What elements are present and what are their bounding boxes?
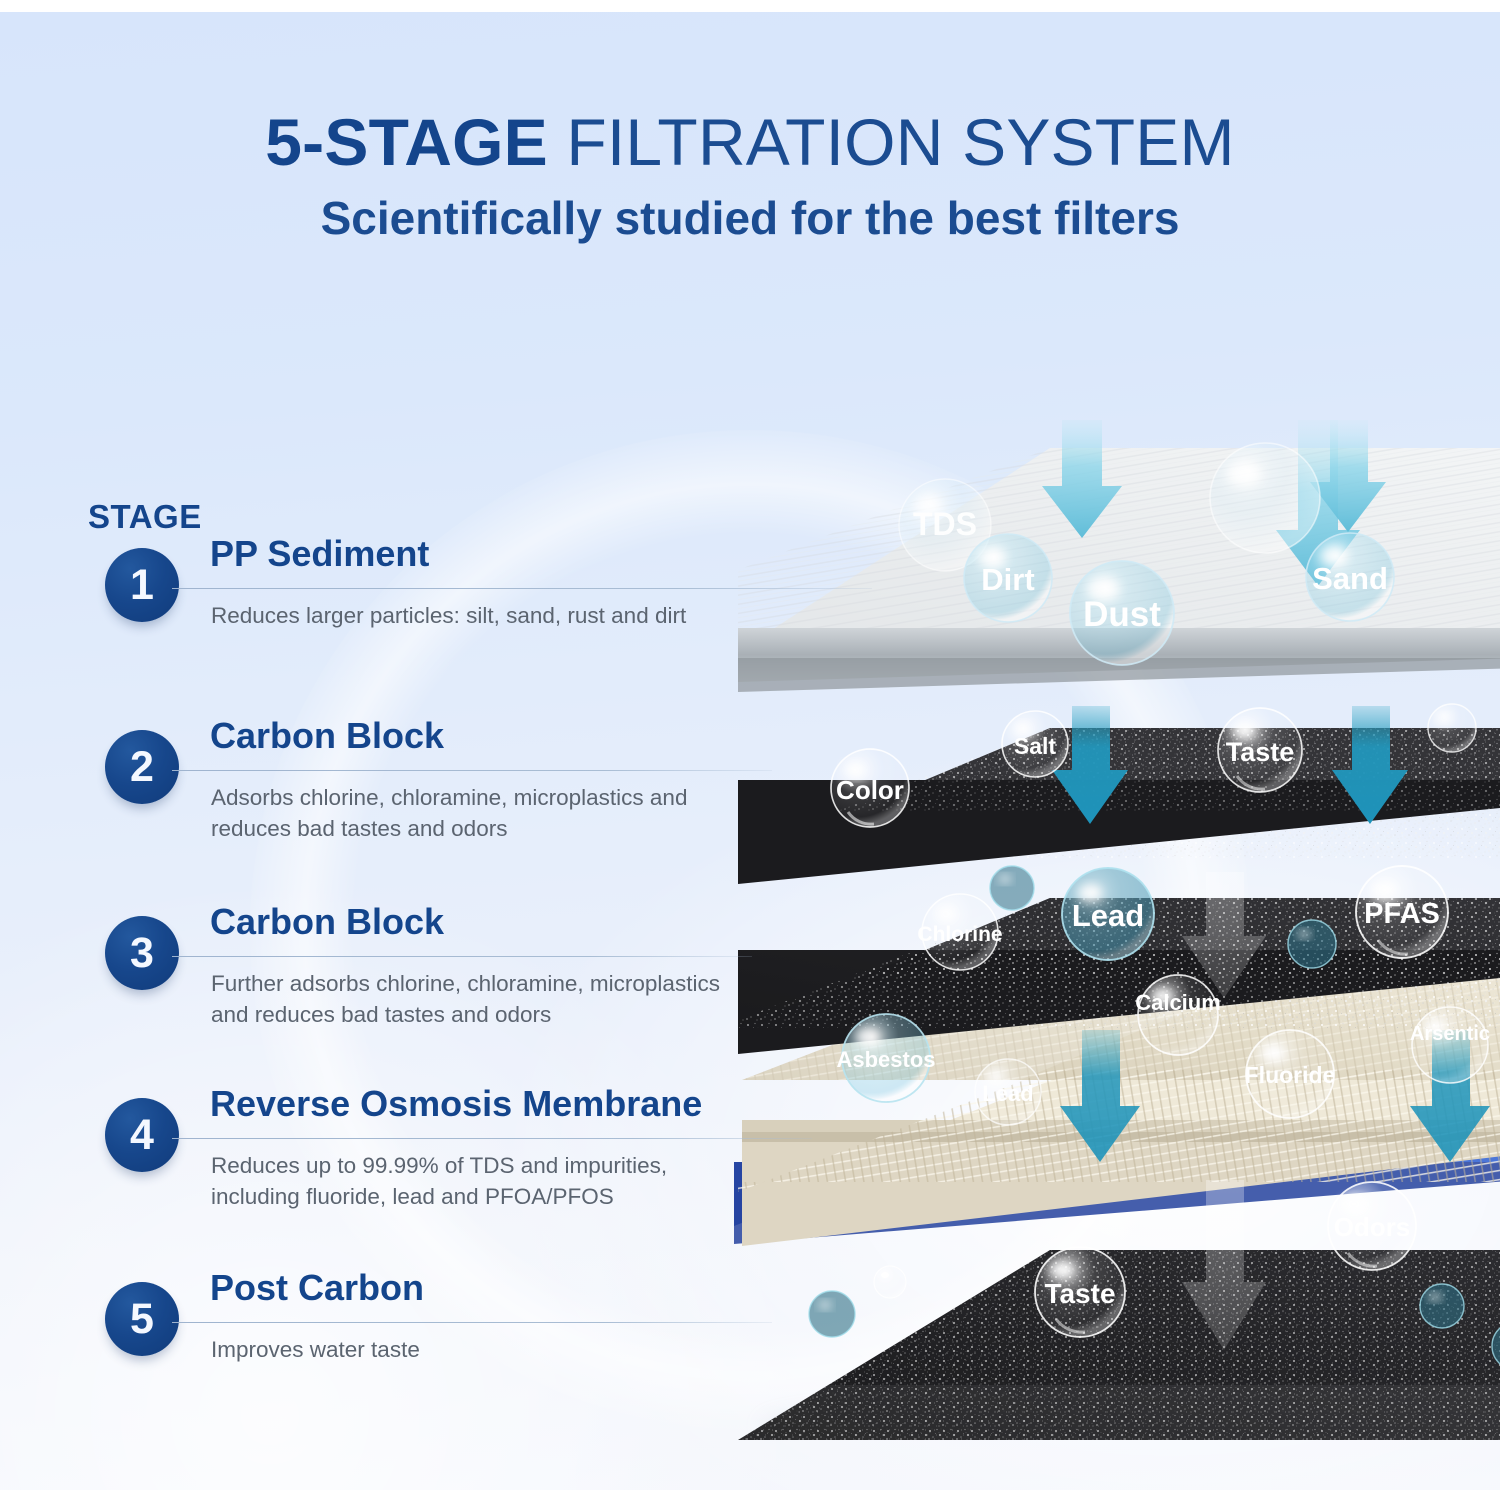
- bubble-label: Salt: [1014, 733, 1057, 759]
- bubble-label: Lead: [982, 1081, 1033, 1106]
- stage-connector-line-4: [172, 1138, 812, 1139]
- bubble-lead-carbon2: Lead: [1062, 868, 1154, 960]
- title-emphasis: 5-STAGE: [265, 105, 548, 179]
- bubble-droplet-teal-4: [1420, 1284, 1464, 1328]
- header: 5-STAGE FILTRATION SYSTEM Scientifically…: [0, 108, 1500, 244]
- stage-badge-2: 2: [105, 730, 179, 804]
- stage-title-1: PP Sediment: [210, 534, 429, 574]
- bubble-label: Sand: [1312, 561, 1388, 596]
- stage-item-5[interactable]: 5 Post Carbon Improves water taste: [0, 1282, 900, 1452]
- stage-label-heading: STAGE: [88, 498, 202, 536]
- bubble-dust: Dust: [1070, 561, 1174, 665]
- bubble-label: Odors: [1334, 1212, 1411, 1242]
- stage-title-2: Carbon Block: [210, 716, 444, 756]
- stage-description-4: Reduces up to 99.99% of TDS and impuriti…: [211, 1150, 731, 1212]
- stage-title-3: Carbon Block: [210, 902, 444, 942]
- stage-connector-line-2: [172, 770, 772, 771]
- bubble-label: Arsentic: [1410, 1023, 1490, 1045]
- bubble-arsentic: Arsentic: [1410, 1007, 1490, 1083]
- bubble-taste-carbon1: Taste: [1218, 708, 1302, 792]
- bubble-sand: Sand: [1306, 533, 1394, 621]
- stage-connector-line-3: [172, 956, 752, 957]
- stage-item-1[interactable]: 1 PP Sediment Reduces larger particles: …: [0, 548, 900, 718]
- bubble-droplet-teal-2: [1288, 920, 1336, 968]
- stage-connector-line-1: [172, 588, 872, 589]
- bubble-pfas: PFAS: [1356, 866, 1448, 958]
- stage-item-2[interactable]: 2 Carbon Block Adsorbs chlorine, chloram…: [0, 730, 900, 900]
- stage-badge-5: 5: [105, 1282, 179, 1356]
- bubble-dirt: Dirt: [964, 534, 1052, 622]
- bubble-taste-post: Taste: [1035, 1247, 1125, 1337]
- bubble-label: Calcium: [1135, 990, 1221, 1015]
- bubble-label: Chlorine: [917, 923, 1002, 946]
- stage-description-5: Improves water taste: [211, 1334, 731, 1365]
- stage-badge-1: 1: [105, 548, 179, 622]
- stage-title-5: Post Carbon: [210, 1268, 424, 1308]
- bubble-label: Lead: [1072, 898, 1144, 933]
- stage-title-4: Reverse Osmosis Membrane: [210, 1084, 702, 1124]
- stage-badge-4: 4: [105, 1098, 179, 1172]
- stage-badge-3: 3: [105, 916, 179, 990]
- title-remainder: FILTRATION SYSTEM: [548, 105, 1235, 179]
- stage-description-1: Reduces larger particles: silt, sand, ru…: [211, 600, 731, 631]
- bubble-salt: Salt: [1002, 711, 1068, 777]
- bubble-fluoride: Fluoride: [1245, 1030, 1336, 1118]
- bubble-label: Dirt: [981, 562, 1034, 597]
- page-title: 5-STAGE FILTRATION SYSTEM: [0, 108, 1500, 177]
- page-subtitle: Scientifically studied for the best filt…: [0, 193, 1500, 244]
- bubble-label: Taste: [1226, 737, 1295, 767]
- stage-description-3: Further adsorbs chlorine, chloramine, mi…: [211, 968, 751, 1030]
- bubble-small-clear-2: [1428, 704, 1476, 752]
- stage-description-2: Adsorbs chlorine, chloramine, microplast…: [211, 782, 731, 844]
- bubble-label: PFAS: [1364, 898, 1440, 930]
- bubble-label: Fluoride: [1245, 1062, 1336, 1088]
- stage-connector-line-5: [172, 1322, 772, 1323]
- bubble-label: Dust: [1083, 595, 1161, 634]
- stage-item-4[interactable]: 4 Reverse Osmosis Membrane Reduces up to…: [0, 1098, 900, 1268]
- bubble-label: Taste: [1044, 1278, 1115, 1309]
- infographic-root: 5-STAGE FILTRATION SYSTEM Scientifically…: [0, 0, 1500, 1500]
- bubble-odors: Odors: [1328, 1182, 1416, 1270]
- bubble-label: TDS: [913, 506, 977, 542]
- stage-item-3[interactable]: 3 Carbon Block Further adsorbs chlorine,…: [0, 916, 900, 1086]
- bubble-large-clear-1: [1210, 443, 1320, 553]
- bubble-droplet-teal-1: [990, 866, 1034, 910]
- bubble-lead-ro: Lead: [975, 1059, 1041, 1125]
